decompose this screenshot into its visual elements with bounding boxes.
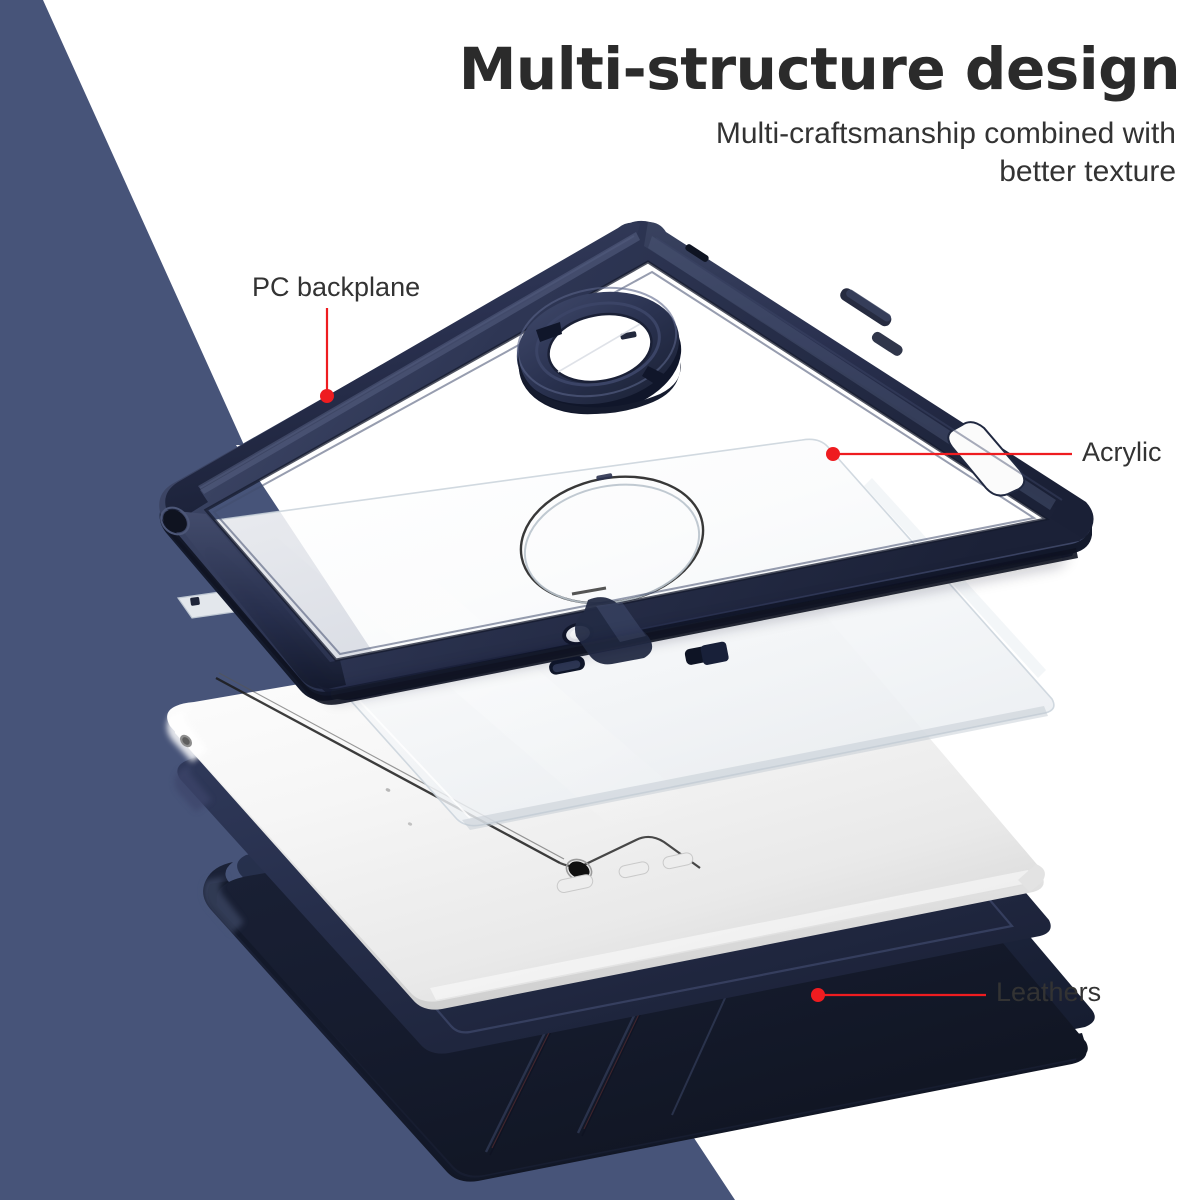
callout-dot-acrylic bbox=[826, 447, 840, 461]
callout-dot-pc-backplane bbox=[320, 389, 334, 403]
callout-dot-leathers bbox=[811, 988, 825, 1002]
infographic-canvas: Multi-structure design Multi-craftsmansh… bbox=[0, 0, 1200, 1200]
callout-overlay bbox=[0, 0, 1200, 1200]
